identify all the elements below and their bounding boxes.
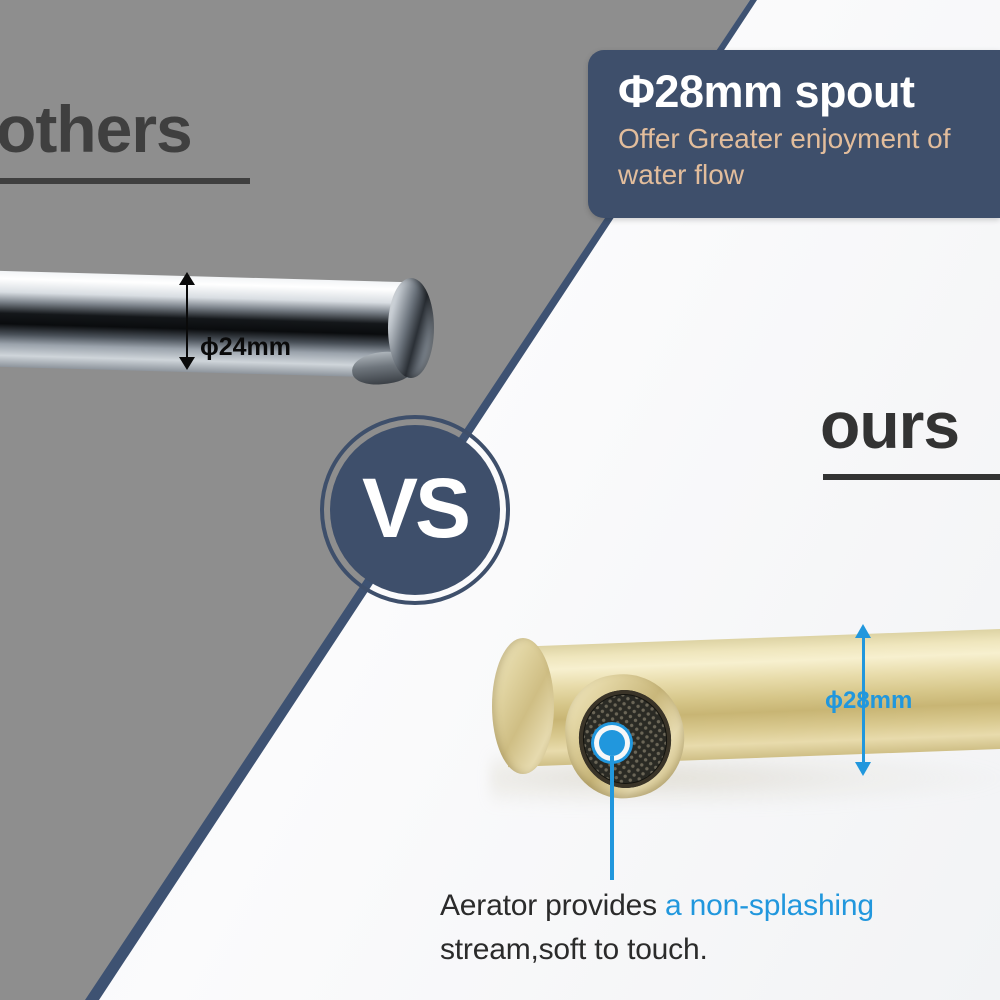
others-underline [0,178,250,184]
chrome-faucet-endcap [388,278,434,378]
feature-badge: Φ28mm spout Offer Greater enjoyment of w… [588,50,1000,218]
others-heading-group: others [0,96,286,162]
gold-faucet-image [480,612,1000,822]
ours-underline [823,474,1000,480]
chrome-faucet-image [0,252,470,402]
caption-text-before: Aerator provides [440,889,665,922]
diameter-24mm-arrow [186,283,188,359]
diameter-28mm-label: ϕ28mm [825,687,912,715]
product-comparison-infographic: others ϕ24mm Φ28mm spout Offer Greater e… [0,0,1000,1000]
aerator-leader-line [610,756,614,880]
ours-heading-group: ours [820,392,1000,458]
aerator-caption: Aerator provides a non-splashing stream,… [440,884,960,973]
gold-faucet-endcap [492,638,554,774]
ours-heading: ours [820,392,1000,458]
feature-badge-subtitle: Offer Greater enjoyment of water flow [618,121,1000,193]
diameter-24mm-label: ϕ24mm [200,333,291,362]
feature-badge-title: Φ28mm spout [618,68,1000,115]
vs-badge-circle: VS [330,425,500,595]
vs-badge-label: VS [362,466,468,550]
caption-text-after: stream,soft to touch. [440,933,708,966]
vs-badge: VS [320,415,510,605]
caption-highlight: a non-splashing [665,889,874,922]
others-heading: others [0,96,286,162]
chrome-faucet-body [0,270,410,378]
aerator-marker-dot-icon [599,730,625,756]
